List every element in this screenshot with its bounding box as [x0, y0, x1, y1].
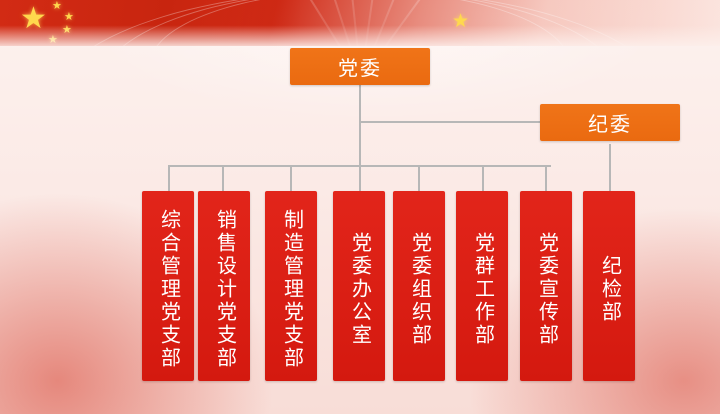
banner-fade-overlay	[0, 0, 720, 46]
node-discipline-committee[interactable]: 纪委	[540, 104, 680, 141]
node-leaf-7-label: 党委宣传部	[536, 232, 557, 347]
node-leaf-2-label: 销售设计党支部	[214, 209, 235, 370]
node-discipline-committee-label: 纪委	[588, 108, 632, 137]
node-leaf-3[interactable]: 制造管理党支部	[265, 191, 317, 381]
node-leaf-5-label: 党委组织部	[409, 232, 430, 347]
connector-drop-3	[290, 165, 292, 191]
connector-drop-6	[482, 165, 484, 191]
node-leaf-6[interactable]: 党群工作部	[456, 191, 508, 381]
node-leaf-4-label: 党委办公室	[349, 232, 370, 347]
connector-root-stem	[359, 85, 361, 121]
node-leaf-1-label: 综合管理党支部	[158, 209, 179, 370]
connector-secondary-to-leaf	[609, 144, 611, 191]
connector-drop-7	[545, 165, 547, 191]
connector-drop-5	[418, 165, 420, 191]
connector-drop-4	[359, 165, 361, 191]
connector-root-to-bus	[359, 121, 361, 166]
node-leaf-3-label: 制造管理党支部	[281, 209, 302, 370]
connector-drop-2	[222, 165, 224, 191]
node-leaf-8[interactable]: 纪检部	[583, 191, 635, 381]
connector-drop-1	[168, 165, 170, 191]
node-leaf-5[interactable]: 党委组织部	[393, 191, 445, 381]
node-leaf-1[interactable]: 综合管理党支部	[142, 191, 194, 381]
node-leaf-8-label: 纪检部	[599, 255, 620, 324]
org-chart-canvas: ★ ★ ★ ★ ★ ★ 党委 纪委 综合管理党支部 销售设计党支部 制造管理党支…	[0, 0, 720, 414]
node-leaf-2[interactable]: 销售设计党支部	[198, 191, 250, 381]
node-leaf-7[interactable]: 党委宣传部	[520, 191, 572, 381]
node-party-committee-label: 党委	[338, 52, 382, 81]
node-leaf-4[interactable]: 党委办公室	[333, 191, 385, 381]
decorative-banner: ★ ★ ★ ★ ★ ★	[0, 0, 720, 46]
node-leaf-6-label: 党群工作部	[472, 232, 493, 347]
node-party-committee[interactable]: 党委	[290, 48, 430, 85]
